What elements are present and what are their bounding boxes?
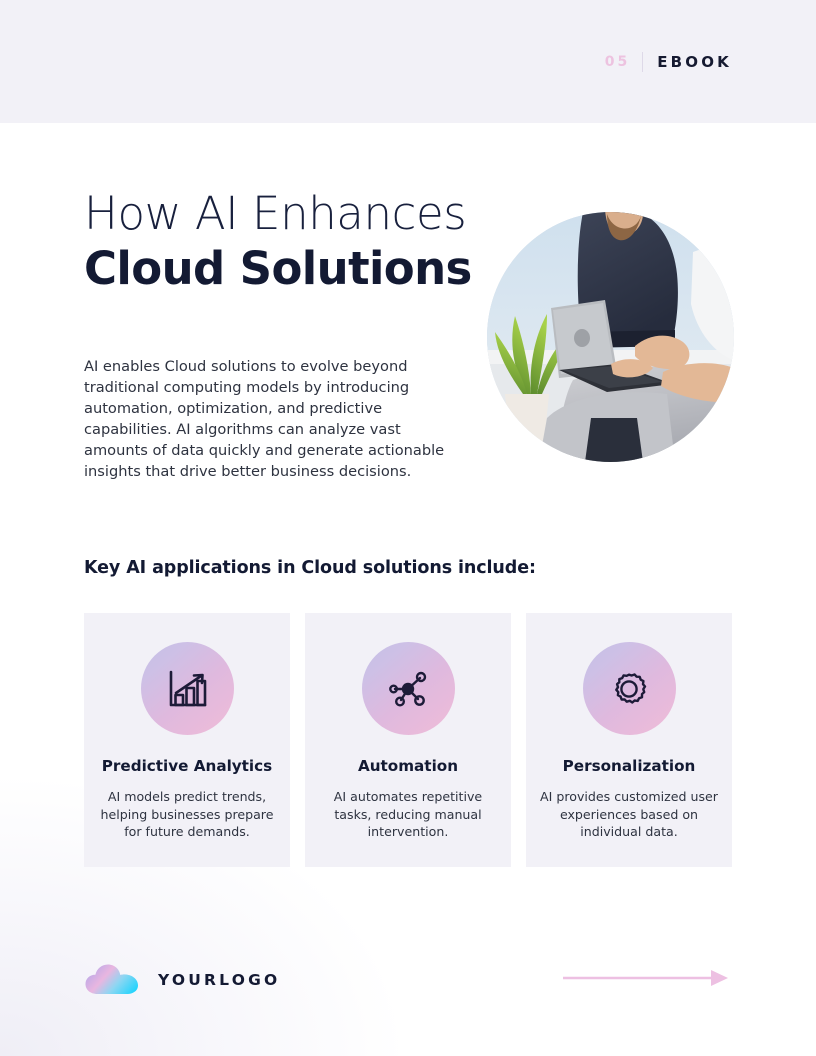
logo-text: YOURLOGO xyxy=(158,971,280,989)
bar-chart-growth-icon xyxy=(141,642,234,735)
footer-logo[interactable]: YOURLOGO xyxy=(84,960,280,1000)
card-title: Predictive Analytics xyxy=(102,757,272,775)
application-card[interactable]: Personalization AI provides customized u… xyxy=(526,613,732,867)
card-title: Automation xyxy=(358,757,458,775)
arrow-right-icon[interactable] xyxy=(563,967,728,989)
header-divider xyxy=(642,52,643,72)
card-body: AI provides customized user experiences … xyxy=(539,788,719,841)
title-line-1: How AI Enhances xyxy=(84,187,484,242)
applications-card-grid: Predictive Analytics AI models predict t… xyxy=(84,613,733,867)
ebook-page: 05 EBOOK How AI Enhances Cloud Solutions xyxy=(0,0,816,1056)
page-number: 05 xyxy=(605,54,630,70)
intro-paragraph: AI enables Cloud solutions to evolve bey… xyxy=(84,356,462,482)
header-meta: 05 EBOOK xyxy=(605,52,732,72)
page-title: How AI Enhances Cloud Solutions xyxy=(84,187,484,297)
title-line-2: Cloud Solutions xyxy=(84,242,484,297)
card-title: Personalization xyxy=(563,757,696,775)
application-card[interactable]: Automation AI automates repetitive tasks… xyxy=(305,613,511,867)
hero-photo xyxy=(487,212,734,462)
section-subheading: Key AI applications in Cloud solutions i… xyxy=(84,558,536,578)
card-body: AI automates repetitive tasks, reducing … xyxy=(318,788,498,841)
document-kind-label: EBOOK xyxy=(657,53,732,71)
card-body: AI models predict trends, helping busine… xyxy=(97,788,277,841)
network-nodes-icon xyxy=(362,642,455,735)
photo-man-with-laptop xyxy=(487,212,734,462)
application-card[interactable]: Predictive Analytics AI models predict t… xyxy=(84,613,290,867)
gear-icon xyxy=(583,642,676,735)
cloud-logo-icon xyxy=(84,960,141,1000)
